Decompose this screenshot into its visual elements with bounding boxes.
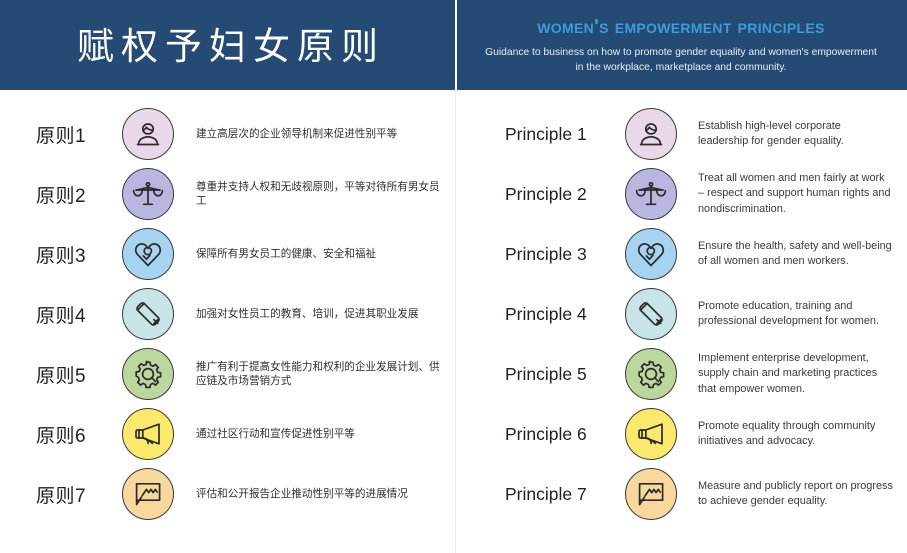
header-band: 赋权予妇女原则 Women's Empowerment Principles G… — [0, 0, 907, 90]
principle-label: Principle 6 — [505, 424, 621, 445]
principle-row: 原则5推广有利于提高女性能力和权利的企业发展计划、供应链及市场营销方式 — [36, 344, 443, 404]
principle-label: Principle 5 — [505, 364, 621, 385]
wep-poster: 赋权予妇女原则 Women's Empowerment Principles G… — [0, 0, 907, 553]
principle-row: Principle 2Treat all women and men fairl… — [505, 164, 893, 224]
scales-icon — [625, 168, 677, 220]
principle-description: Establish high-level corporate leadershi… — [681, 119, 893, 150]
principle-label: 原则7 — [36, 481, 118, 508]
principle-description: 推广有利于提高女性能力和权利的企业发展计划、供应链及市场营销方式 — [178, 360, 443, 389]
principle-description: 通过社区行动和宣传促进性别平等 — [178, 427, 443, 441]
pencil-icon — [122, 288, 174, 340]
gear-icon — [625, 348, 677, 400]
principle-description: 保障所有男女员工的健康、安全和福祉 — [178, 247, 443, 261]
principle-row: 原则6通过社区行动和宣传促进性别平等 — [36, 404, 443, 464]
megaphone-icon — [122, 408, 174, 460]
principle-label: Principle 1 — [505, 124, 621, 145]
principle-label: 原则5 — [36, 361, 118, 388]
principle-label: 原则2 — [36, 181, 118, 208]
principle-description: 加强对女性员工的教育、培训，促进其职业发展 — [178, 307, 443, 321]
principle-label: 原则4 — [36, 301, 118, 328]
principle-row: Principle 6Promote equality through comm… — [505, 404, 893, 464]
heart-icon — [122, 228, 174, 280]
right-panel-english: Principle 1Establish high-level corporat… — [455, 90, 907, 553]
english-subtitle: Guidance to business on how to promote g… — [484, 46, 879, 76]
principle-label: Principle 7 — [505, 484, 621, 505]
principle-label: Principle 2 — [505, 184, 621, 205]
principle-label: 原则1 — [36, 121, 118, 148]
principle-row: Principle 4Promote education, training a… — [505, 284, 893, 344]
left-panel-chinese: 原则1建立高层次的企业领导机制来促进性别平等原则2尊重并支持人权和无歧视原则，平… — [0, 90, 455, 553]
principle-description: Measure and publicly report on progress … — [681, 479, 893, 510]
principle-row: Principle 5Implement enterprise developm… — [505, 344, 893, 404]
principle-description: Promote education, training and professi… — [681, 299, 893, 330]
person-icon — [122, 108, 174, 160]
principle-row: Principle 1Establish high-level corporat… — [505, 104, 893, 164]
principle-label: 原则3 — [36, 241, 118, 268]
megaphone-icon — [625, 408, 677, 460]
principle-label: Principle 3 — [505, 244, 621, 265]
principle-row: 原则4加强对女性员工的教育、培训，促进其职业发展 — [36, 284, 443, 344]
header-left: 赋权予妇女原则 — [0, 0, 455, 90]
principle-description: 尊重并支持人权和无歧视原则，平等对待所有男女员工 — [178, 180, 443, 209]
principle-label: Principle 4 — [505, 304, 621, 325]
principle-description: Implement enterprise development, supply… — [681, 351, 893, 397]
chart-icon — [625, 468, 677, 520]
principle-row: Principle 3Ensure the health, safety and… — [505, 224, 893, 284]
english-title: Women's Empowerment Principles — [537, 16, 824, 39]
principle-row: 原则2尊重并支持人权和无歧视原则，平等对待所有男女员工 — [36, 164, 443, 224]
header-right: Women's Empowerment Principles Guidance … — [455, 0, 907, 90]
principle-row: 原则7评估和公开报告企业推动性别平等的进展情况 — [36, 464, 443, 524]
gear-icon — [122, 348, 174, 400]
principle-row: Principle 7Measure and publicly report o… — [505, 464, 893, 524]
heart-icon — [625, 228, 677, 280]
body-area: 原则1建立高层次的企业领导机制来促进性别平等原则2尊重并支持人权和无歧视原则，平… — [0, 90, 907, 553]
person-icon — [625, 108, 677, 160]
pencil-icon — [625, 288, 677, 340]
scales-icon — [122, 168, 174, 220]
principle-description: 评估和公开报告企业推动性别平等的进展情况 — [178, 487, 443, 501]
chart-icon — [122, 468, 174, 520]
principle-row: 原则3保障所有男女员工的健康、安全和福祉 — [36, 224, 443, 284]
principle-description: Promote equality through community initi… — [681, 419, 893, 450]
principle-description: Treat all women and men fairly at work –… — [681, 171, 893, 217]
principle-description: 建立高层次的企业领导机制来促进性别平等 — [178, 127, 443, 141]
principle-description: Ensure the health, safety and well-being… — [681, 239, 893, 270]
principle-row: 原则1建立高层次的企业领导机制来促进性别平等 — [36, 104, 443, 164]
principle-label: 原则6 — [36, 421, 118, 448]
chinese-title: 赋权予妇女原则 — [70, 16, 385, 70]
